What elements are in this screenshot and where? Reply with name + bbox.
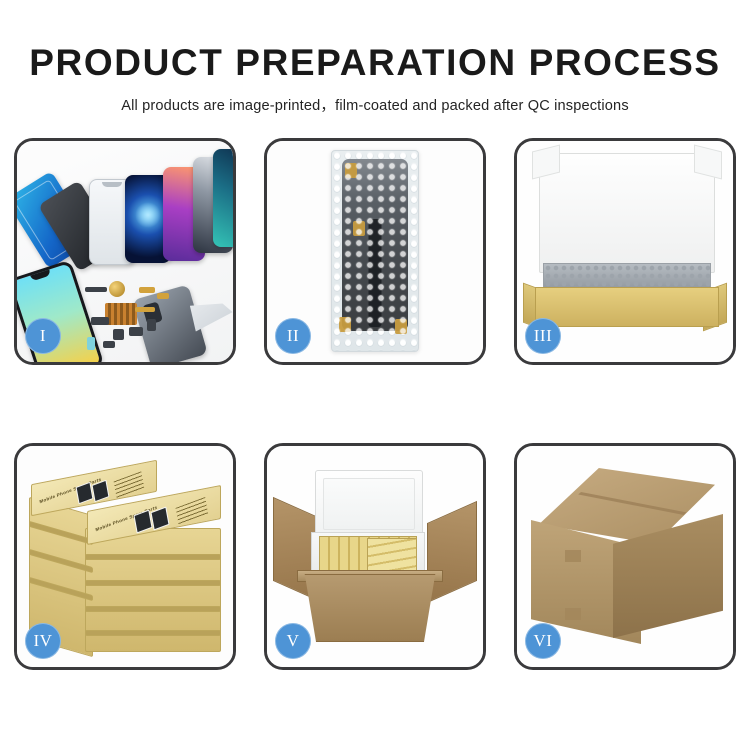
step-badge-3: III <box>525 318 561 354</box>
styrofoam-lid <box>315 470 423 538</box>
step-badge-2: II <box>275 318 311 354</box>
small-part <box>135 307 155 312</box>
small-part <box>157 293 169 299</box>
sealed-carton <box>531 468 723 648</box>
vibration-motor-part <box>109 281 125 297</box>
small-part <box>139 287 155 293</box>
box-seam <box>85 580 221 586</box>
gold-connector <box>345 163 357 178</box>
product-preparation-infographic: PRODUCT PREPARATION PROCESS All products… <box>0 0 750 750</box>
small-part <box>85 287 107 292</box>
step-panel-1: I <box>14 138 236 365</box>
gold-connector <box>339 317 351 332</box>
small-part <box>87 337 95 350</box>
small-part <box>113 329 124 340</box>
small-part <box>147 319 156 331</box>
gold-connector <box>395 319 407 334</box>
small-part <box>91 317 109 325</box>
white-foam-sheet <box>539 153 715 273</box>
carton-front-face <box>299 574 441 642</box>
gold-connector <box>353 221 365 236</box>
yellow-boxes-inside <box>367 538 417 574</box>
step-badge-4: IV <box>25 623 61 659</box>
page-subtitle: All products are image-printed，film-coat… <box>0 94 750 115</box>
small-part <box>129 327 143 336</box>
step-panel-4: Mobile Phone Spare Parts Mobile Phone Sp… <box>14 443 236 670</box>
step-panel-2: II <box>264 138 486 365</box>
box-seam <box>85 606 221 612</box>
header: PRODUCT PREPARATION PROCESS All products… <box>0 0 750 115</box>
step-panel-3: III <box>514 138 736 365</box>
step-badge-1: I <box>25 318 61 354</box>
yellow-box-base <box>535 287 719 327</box>
box-seam <box>85 630 221 636</box>
small-part <box>103 341 115 348</box>
flex-cable <box>369 219 382 327</box>
phone-screen-teal <box>213 149 233 247</box>
page-title: PRODUCT PREPARATION PROCESS <box>0 44 750 83</box>
step-panel-5: V <box>264 443 486 670</box>
step-badge-5: V <box>275 623 311 659</box>
process-steps-grid: I II III <box>14 138 736 670</box>
box-seam <box>85 554 221 560</box>
chip-grid-part <box>105 303 137 325</box>
step-badge-6: VI <box>525 623 561 659</box>
box-stack: Mobile Phone Spare Parts Mobile Phone Sp… <box>27 462 229 658</box>
carton-flap-right <box>427 501 477 603</box>
carton-tape-mark <box>565 550 581 562</box>
step-panel-6: VI <box>514 443 736 670</box>
carton-tape-mark <box>565 608 581 620</box>
